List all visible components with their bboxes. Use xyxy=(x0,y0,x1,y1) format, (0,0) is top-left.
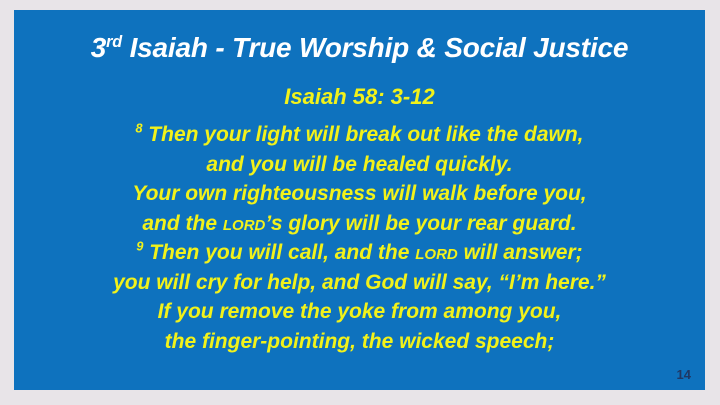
scripture-line: the finger-pointing, the wicked speech; xyxy=(14,327,705,357)
slide-root: 3rd Isaiah - True Worship & Social Justi… xyxy=(0,0,720,405)
scripture-text: Then your light will break out like the … xyxy=(142,123,583,146)
scripture-text: If you remove the yoke from among you, xyxy=(158,300,562,323)
scripture-reference: Isaiah 58: 3-12 xyxy=(14,84,705,110)
slide-title: 3rd Isaiah - True Worship & Social Justi… xyxy=(14,32,705,64)
slide-content-panel: 3rd Isaiah - True Worship & Social Justi… xyxy=(14,10,705,390)
scripture-line: and the Lord’s glory will be your rear g… xyxy=(14,209,705,239)
divine-name: Lord xyxy=(223,212,266,235)
scripture-text: Your own righteousness will walk before … xyxy=(132,182,586,205)
scripture-line: 8 Then your light will break out like th… xyxy=(14,120,705,150)
scripture-line: you will cry for help, and God will say,… xyxy=(14,268,705,298)
scripture-text: will answer; xyxy=(458,241,583,264)
title-main-text: Isaiah - True Worship & Social Justice xyxy=(122,32,628,63)
scripture-line: Your own righteousness will walk before … xyxy=(14,179,705,209)
scripture-text: and you will be healed quickly. xyxy=(206,153,512,176)
scripture-line: 9 Then you will call, and the Lord will … xyxy=(14,238,705,268)
scripture-line: If you remove the yoke from among you, xyxy=(14,297,705,327)
scripture-body: 8 Then your light will break out like th… xyxy=(14,120,705,356)
title-ordinal-number: 3 xyxy=(91,32,106,63)
scripture-line: and you will be healed quickly. xyxy=(14,150,705,180)
scripture-text: and the xyxy=(142,212,223,235)
page-number: 14 xyxy=(677,367,691,382)
scripture-text: ’s glory will be your rear guard. xyxy=(265,212,576,235)
divine-name: Lord xyxy=(415,241,458,264)
scripture-text: you will cry for help, and God will say,… xyxy=(113,271,606,294)
scripture-text: the finger-pointing, the wicked speech; xyxy=(165,330,555,353)
title-ordinal-suffix: rd xyxy=(106,33,122,51)
scripture-text: Then you will call, and the xyxy=(143,241,415,264)
